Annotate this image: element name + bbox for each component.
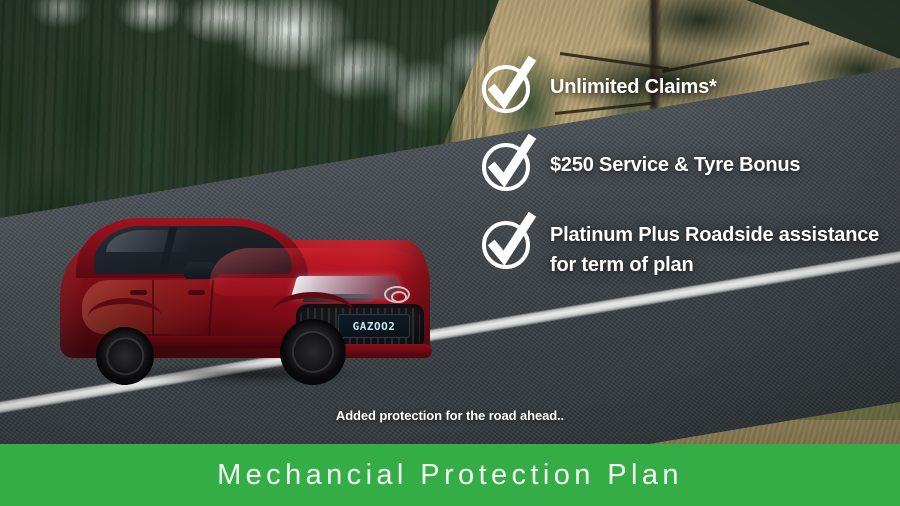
tagline-text: Added protection for the road ahead.. xyxy=(0,408,900,423)
car-vehicle: GAZOO2 xyxy=(60,218,430,383)
promotional-banner: GAZOO2 Unlimited Claims* xyxy=(0,0,900,506)
benefit-label: Unlimited Claims* xyxy=(550,62,717,102)
license-plate-text: GAZOO2 xyxy=(353,320,396,333)
benefit-item: Unlimited Claims* xyxy=(480,62,892,116)
toyota-logo-icon xyxy=(384,286,410,303)
footer-banner: Mechancial Protection Plan xyxy=(0,444,900,506)
car-side-sill xyxy=(138,336,290,348)
check-circle-icon xyxy=(480,136,536,194)
benefits-checklist: Unlimited Claims* $250 Service & Tyre Bo… xyxy=(480,62,892,280)
plan-title: Mechancial Protection Plan xyxy=(217,459,683,492)
car-door-handle xyxy=(130,290,147,295)
car-door-handle xyxy=(188,290,205,295)
check-circle-icon xyxy=(480,214,536,272)
car-wheel-front xyxy=(280,319,346,385)
benefit-label: Platinum Plus Roadside assistance for te… xyxy=(550,218,880,280)
check-circle-icon xyxy=(480,58,536,116)
benefit-label: $250 Service & Tyre Bonus xyxy=(550,140,800,180)
car-wheel-rear xyxy=(96,327,154,385)
benefit-item: $250 Service & Tyre Bonus xyxy=(480,140,892,194)
benefit-item: Platinum Plus Roadside assistance for te… xyxy=(480,218,892,280)
